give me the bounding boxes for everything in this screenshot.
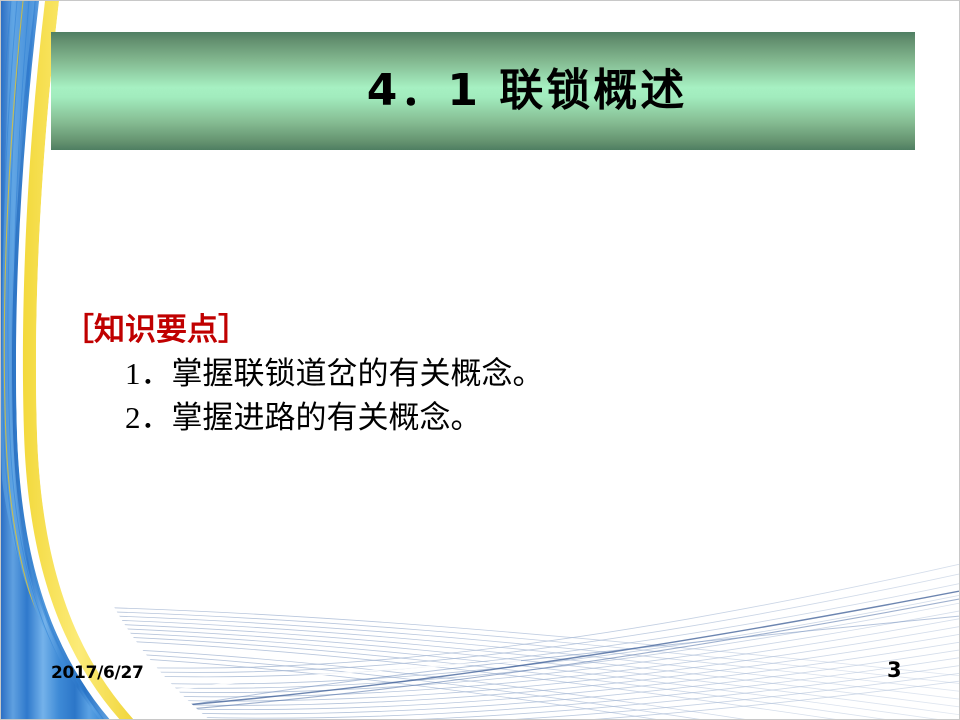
- content-block: ［知识要点］ 1．掌握联锁道岔的有关概念。 2．掌握进路的有关概念。: [63, 313, 863, 440]
- key-point-item-1: 1．掌握联锁道岔的有关概念。: [63, 352, 863, 396]
- slide-canvas: 4．1 联锁概述 ［知识要点］ 1．掌握联锁道岔的有关概念。 2．掌握进路的有关…: [0, 0, 960, 720]
- title-banner: 4．1 联锁概述: [51, 32, 915, 150]
- key-point-item-2: 2．掌握进路的有关概念。: [63, 396, 863, 440]
- footer-date: 2017/6/27: [51, 663, 144, 683]
- footer-page-number: 3: [887, 658, 902, 682]
- key-points-heading: ［知识要点］: [63, 313, 863, 348]
- slide-title: 4．1 联锁概述: [367, 69, 688, 113]
